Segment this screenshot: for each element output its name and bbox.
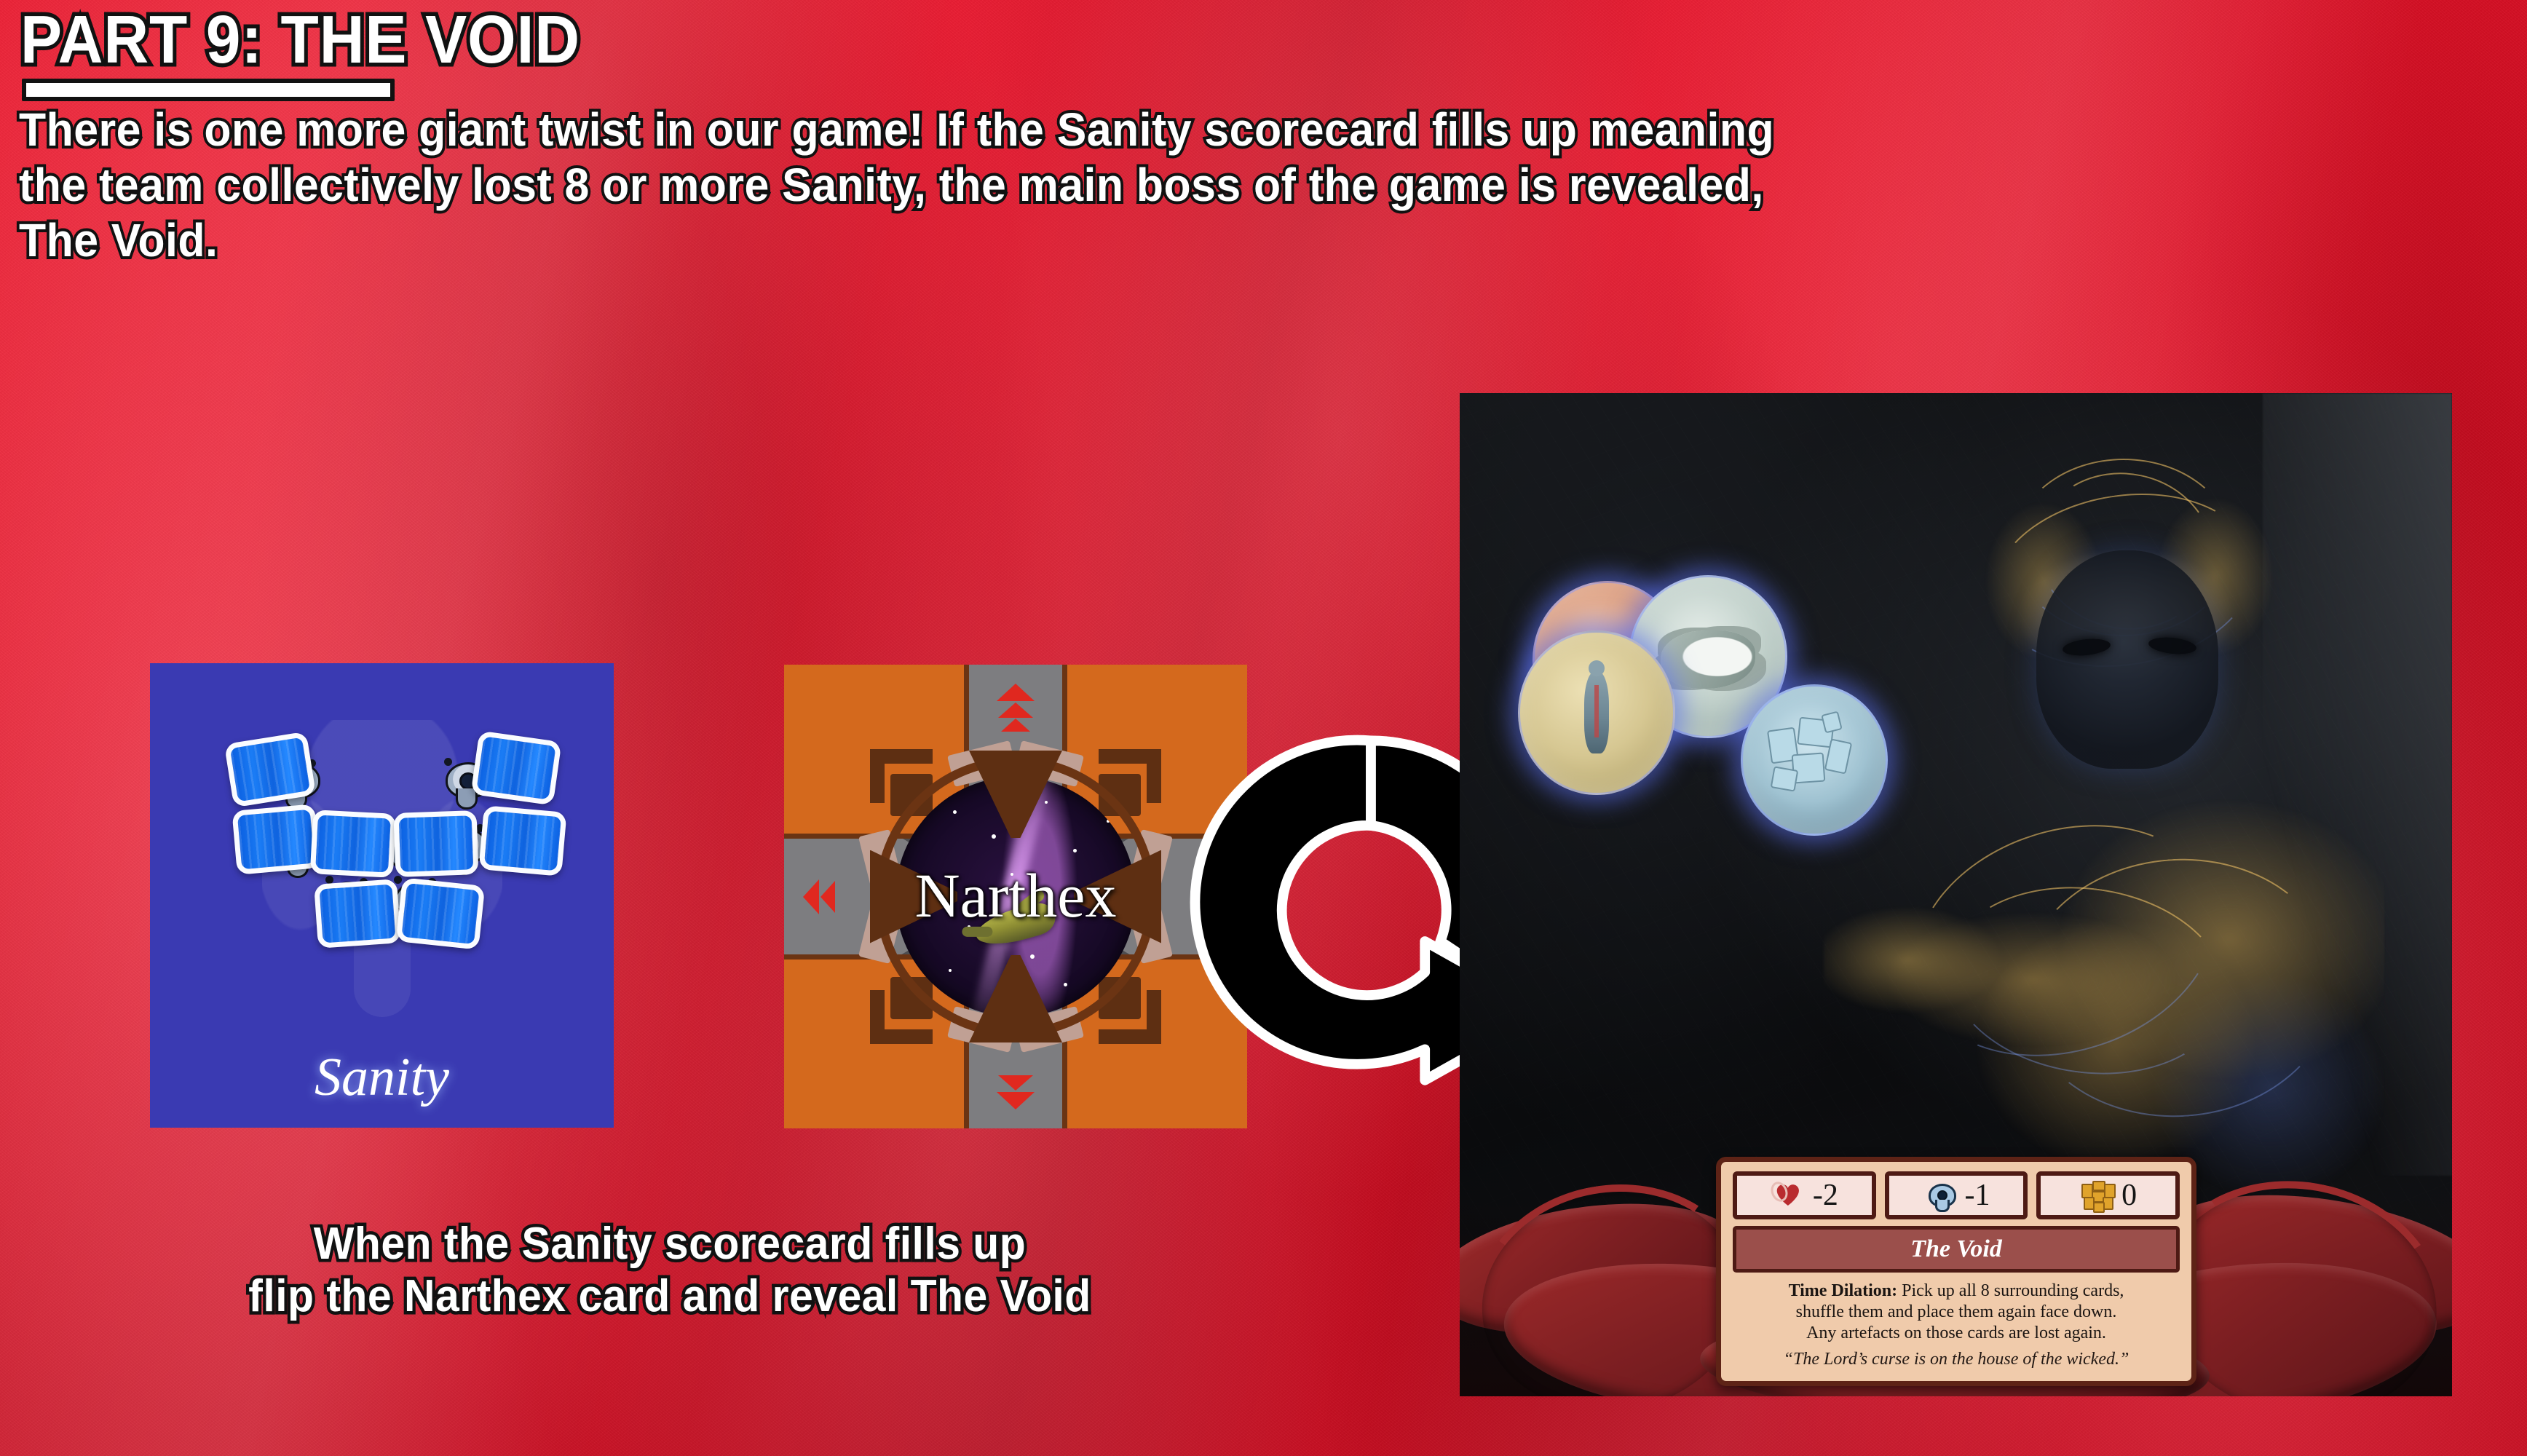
body-line-3: The Void.	[19, 216, 2370, 264]
stat-health-value: -2	[1813, 1180, 1838, 1211]
title-underline	[22, 79, 395, 101]
sanity-token-icon[interactable]	[314, 879, 401, 949]
caption-line-2: flip the Narthex card and reveal The Voi…	[61, 1270, 1278, 1323]
caption-line-1: When the Sanity scorecard fills up	[61, 1218, 1278, 1270]
sanity-token-icon[interactable]	[310, 810, 396, 878]
stat-sanity-value: -1	[1965, 1180, 1990, 1211]
rules-line-1: Pick up all 8 surrounding cards,	[1897, 1281, 2124, 1300]
sanity-token-icon[interactable]	[224, 732, 316, 808]
orb-figure-icon	[1518, 630, 1675, 795]
stat-artefact: 0	[2036, 1171, 2180, 1219]
void-card-flavor: “The Lord’s curse is on the house of the…	[1733, 1349, 2180, 1369]
chevron-up-icon	[1001, 719, 1030, 732]
body-copy: There is one more giant twist in our gam…	[19, 106, 2370, 272]
chevron-up-icon	[998, 703, 1033, 718]
rules-line-2: shuffle them and place them again face d…	[1796, 1302, 2117, 1321]
stat-sanity: -1	[1885, 1171, 2028, 1219]
page-title: PART 9: THE VOID	[20, 6, 580, 74]
artefact-icon	[2079, 1179, 2114, 1211]
eye-icon	[1923, 1179, 1958, 1211]
sanity-token-icon[interactable]	[232, 804, 320, 875]
stat-artefact-value: 0	[2121, 1180, 2137, 1211]
void-card-title: The Void	[1733, 1226, 2180, 1273]
void-stat-row: -2 -1	[1733, 1171, 2180, 1219]
sanity-scorecard[interactable]: Sanity	[150, 663, 614, 1128]
chevron-down-icon	[998, 1075, 1033, 1091]
sanity-card-label: Sanity	[150, 1047, 614, 1109]
the-void-card[interactable]: -2 -1	[1460, 393, 2452, 1396]
void-card-panel: -2 -1	[1716, 1157, 2196, 1386]
sanity-token-icon[interactable]	[396, 877, 486, 949]
sanity-token-icon[interactable]	[478, 805, 566, 877]
chevron-down-icon	[997, 1092, 1035, 1109]
body-line-1: There is one more giant twist in our gam…	[19, 106, 2370, 154]
sanity-token-icon[interactable]	[393, 810, 478, 877]
rules-keyword: Time Dilation:	[1789, 1281, 1898, 1300]
rules-line-3: Any artefacts on those cards are lost ag…	[1806, 1324, 2106, 1342]
orb-shards-icon	[1741, 684, 1888, 836]
body-line-2: the team collectively lost 8 or more San…	[19, 161, 2370, 209]
stat-health: -2	[1733, 1171, 1876, 1219]
slide-canvas: PART 9: THE VOID There is one more giant…	[0, 0, 2527, 1456]
void-entity-art	[1867, 451, 2421, 1238]
heart-icon	[1771, 1179, 1806, 1211]
chevron-up-icon	[997, 684, 1035, 701]
void-card-rules: Time Dilation: Pick up all 8 surrounding…	[1733, 1281, 2180, 1344]
sanity-token-icon[interactable]	[470, 730, 561, 805]
caption: When the Sanity scorecard fills up flip …	[61, 1218, 1278, 1323]
